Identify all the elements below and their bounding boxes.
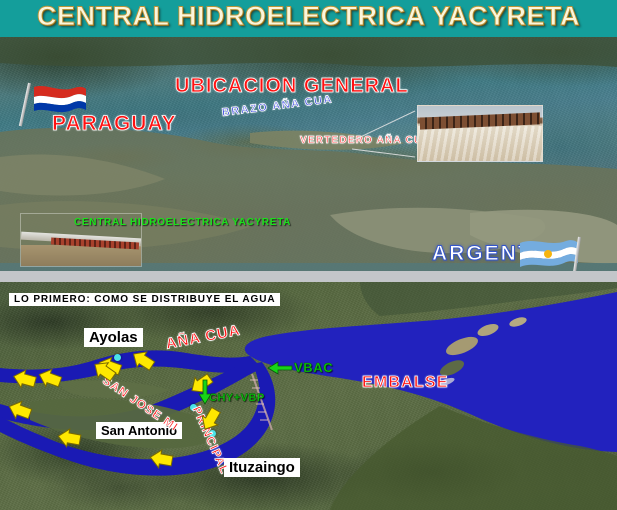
inset-photo-spillway — [417, 105, 543, 162]
distribucion-agua-panel: LO PRIMERO: COMO SE DISTRIBUYE EL AGUA A… — [0, 282, 617, 510]
slide-title-bar: CENTRAL HIDROELECTRICA YACYRETA — [0, 0, 617, 37]
ubicacion-general-panel: UBICACION GENERAL PARAGUAY BRAZO AÑA CUA… — [0, 37, 617, 271]
reservoir-label-embalse: EMBALSE — [362, 374, 449, 392]
argentina-flag — [520, 235, 590, 271]
inflow-label-chy-vbp: CHY+VBP — [209, 392, 265, 404]
inset-photo-powerhouse — [20, 213, 142, 267]
spillway-water — [418, 126, 542, 161]
city-label-ituzaingo: Ituzaingo — [224, 458, 300, 477]
hydrology-shapes — [0, 282, 617, 510]
page-title: CENTRAL HIDROELECTRICA YACYRETA — [0, 1, 617, 32]
paraguay-flag-cloth — [34, 83, 92, 117]
city-marker-ayolas — [114, 354, 121, 361]
city-label-ayolas: Ayolas — [84, 328, 143, 347]
panel-divider — [0, 271, 617, 282]
paraguay-flag — [28, 81, 86, 129]
section-heading-distribucion: LO PRIMERO: COMO SE DISTRIBUYE EL AGUA — [9, 293, 280, 306]
slide-root: CENTRAL HIDROELECTRICA YACYRETA UBICACIO… — [0, 0, 617, 510]
section-heading-ubicacion: UBICACION GENERAL — [175, 75, 409, 98]
spillway-label-vertedero-ana-cua: VERTEDERO AÑA CUA — [300, 135, 431, 146]
inflow-label-vbac: VBAC — [294, 360, 333, 375]
